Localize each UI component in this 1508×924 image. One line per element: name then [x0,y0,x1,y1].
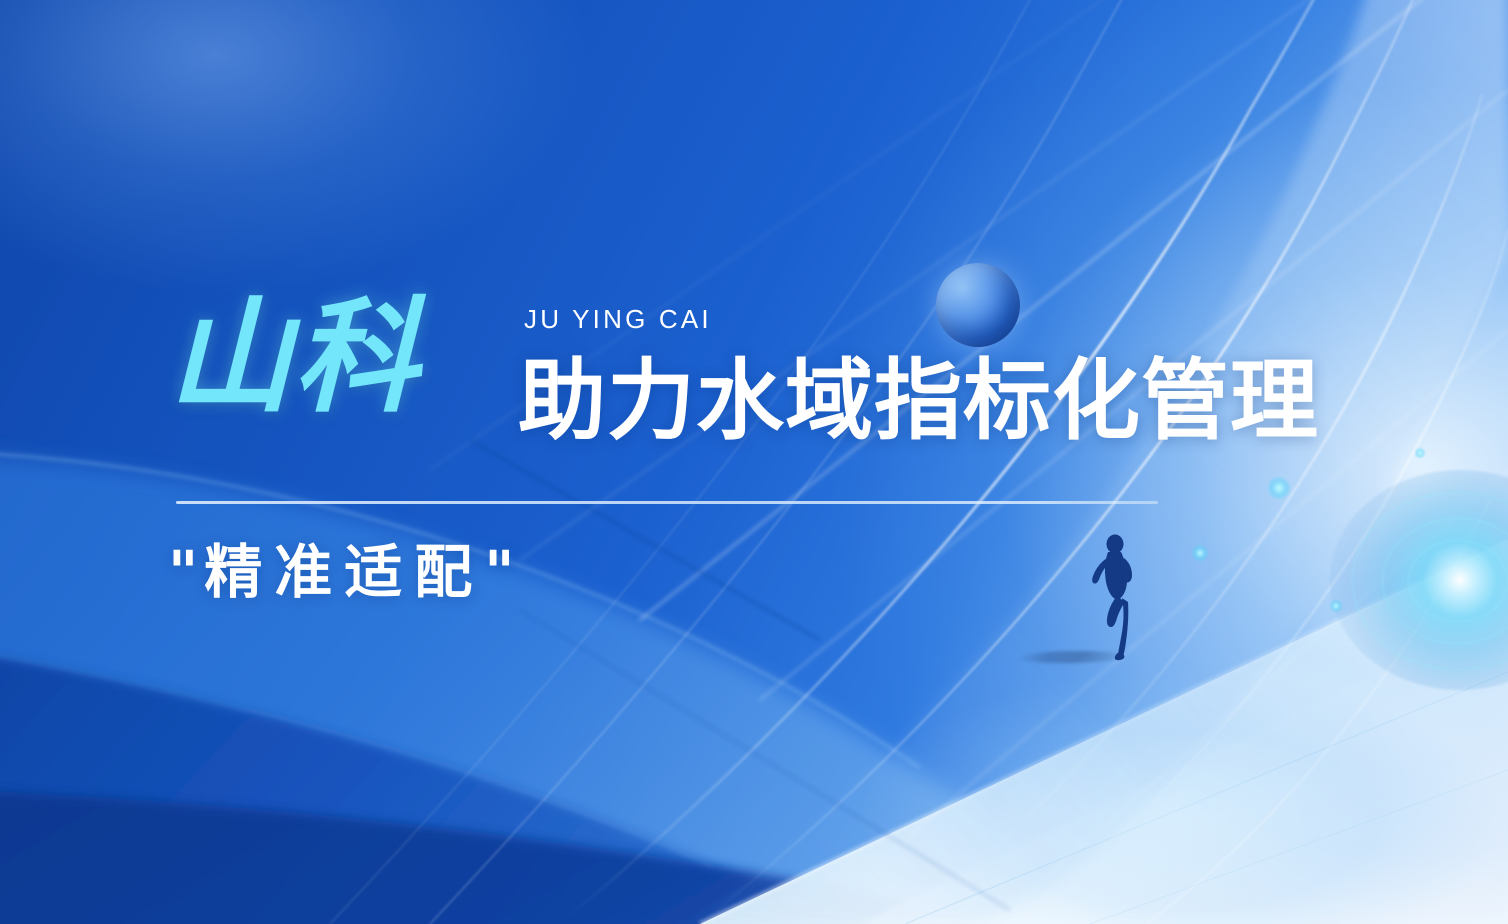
tagline-text: 精准适配 [204,540,484,605]
promo-banner: 山科 JU YING CAI 助力水域指标化管理 "精准适配" [0,0,1508,924]
banner-tagline: "精准适配" [168,543,520,602]
brand-pinyin-text: JU YING CAI [524,306,712,332]
brand-logo-text: 山科 [168,296,420,420]
banner-content: 山科 JU YING CAI 助力水域指标化管理 "精准适配" [0,0,1508,924]
headline-divider [176,501,1158,504]
quote-open-mark: " [168,538,204,606]
banner-headline: 助力水域指标化管理 [518,357,1319,445]
quote-close-mark: " [484,538,520,606]
